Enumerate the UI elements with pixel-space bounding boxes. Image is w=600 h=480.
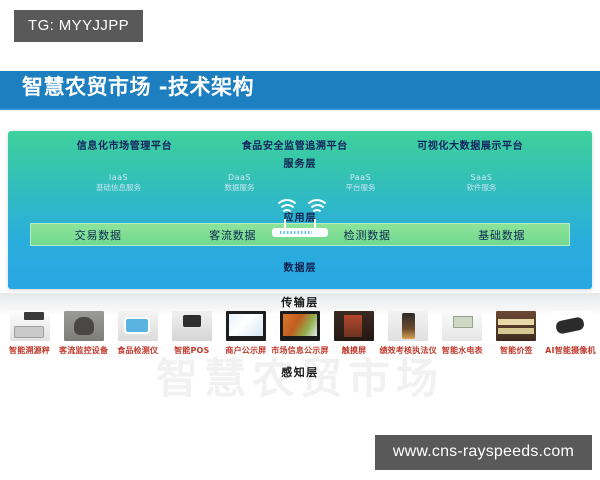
device-label: 智能溯源秤: [9, 345, 50, 356]
title-underline: [0, 108, 600, 110]
device-smart-utility-meter[interactable]: 智能水电表: [439, 311, 486, 356]
device-label: 绩效考核执法仪: [379, 345, 436, 356]
router-led-strip: [280, 231, 312, 234]
device-enforcement-recorder[interactable]: 绩效考核执法仪: [385, 311, 432, 356]
device-label: 智能POS: [174, 345, 209, 356]
platform-label-bigdata-visual: 可视化大数据展示平台: [417, 137, 523, 152]
device-food-detector[interactable]: 食品检测仪: [114, 311, 161, 356]
smart-utility-meter-icon: [442, 311, 482, 341]
layer-tag-data: 数据层: [8, 259, 592, 274]
smart-pos-icon: [172, 311, 212, 341]
tg-badge: TG: MYYJJPP: [14, 10, 143, 42]
service-model-iaas: IaaS 基础信息服务: [58, 173, 179, 192]
passenger-flow-camera-icon: [64, 311, 104, 341]
wifi-router-icon: [264, 207, 336, 237]
smart-price-tag-icon: [496, 311, 536, 341]
service-model-iaas-desc: 基础信息服务: [58, 183, 179, 192]
page-title: 智慧农贸市场 -技术架构: [22, 74, 254, 100]
service-model-daas-name: DaaS: [179, 173, 300, 183]
device-row: 智能溯源秤 客流监控设备 食品检测仪 智能POS 商户公示屏 市场信息公示屏 触…: [6, 311, 594, 356]
market-info-screen-icon: [280, 311, 320, 341]
device-smart-scale[interactable]: 智能溯源秤: [6, 311, 53, 356]
device-label: 智能价签: [500, 345, 533, 356]
service-model-saas-desc: 软件服务: [421, 183, 542, 192]
architecture-slide: 智慧农贸市场 -技术架构 信息化市场管理平台 食品安全监管追溯平台 可视化大数据…: [0, 68, 600, 480]
data-item-transaction: 交易数据: [31, 224, 166, 245]
device-label: 客流监控设备: [59, 345, 108, 356]
device-label: 食品检测仪: [117, 345, 158, 356]
service-model-paas: PaaS 平台服务: [300, 173, 421, 192]
device-label: 市场信息公示屏: [271, 345, 328, 356]
layer-tag-transmission: 传输层: [0, 294, 600, 310]
platform-row: 信息化市场管理平台 食品安全监管追溯平台 可视化大数据展示平台: [8, 137, 592, 152]
ai-camera-icon: [550, 311, 590, 341]
service-model-paas-desc: 平台服务: [300, 183, 421, 192]
device-ai-camera[interactable]: AI智能摄像机: [547, 311, 594, 356]
layer-tag-service: 服务层: [8, 155, 592, 170]
smart-scale-icon: [10, 311, 50, 341]
service-model-saas-name: SaaS: [421, 173, 542, 183]
device-smart-pos[interactable]: 智能POS: [168, 311, 215, 356]
device-smart-price-tag[interactable]: 智能价签: [493, 311, 540, 356]
device-touch-screen[interactable]: 触摸屏: [331, 311, 378, 356]
device-label: 商户公示屏: [225, 345, 266, 356]
device-label: 触摸屏: [342, 345, 367, 356]
service-model-saas: SaaS 软件服务: [421, 173, 542, 192]
service-model-daas: DaaS 数据服务: [179, 173, 300, 192]
device-market-info-screen[interactable]: 市场信息公示屏: [276, 311, 323, 356]
service-model-iaas-name: IaaS: [58, 173, 179, 183]
device-passenger-flow-camera[interactable]: 客流监控设备: [60, 311, 107, 356]
platform-label-market-management: 信息化市场管理平台: [77, 137, 172, 152]
service-model-paas-name: PaaS: [300, 173, 421, 183]
merchant-display-screen-icon: [226, 311, 266, 341]
layer-tag-perception: 感知层: [0, 364, 600, 380]
food-detector-icon: [118, 311, 158, 341]
platform-label-food-safety: 食品安全监管追溯平台: [242, 137, 348, 152]
touch-screen-icon: [334, 311, 374, 341]
device-label: 智能水电表: [442, 345, 483, 356]
device-label: AI智能摄像机: [545, 345, 596, 356]
service-model-row: IaaS 基础信息服务 DaaS 数据服务 PaaS 平台服务 SaaS 软件服…: [8, 173, 592, 192]
device-merchant-display-screen[interactable]: 商户公示屏: [222, 311, 269, 356]
service-model-daas-desc: 数据服务: [179, 183, 300, 192]
enforcement-recorder-icon: [388, 311, 428, 341]
site-watermark: www.cns-rayspeeds.com: [375, 435, 592, 470]
data-item-basic: 基础数据: [435, 224, 570, 245]
